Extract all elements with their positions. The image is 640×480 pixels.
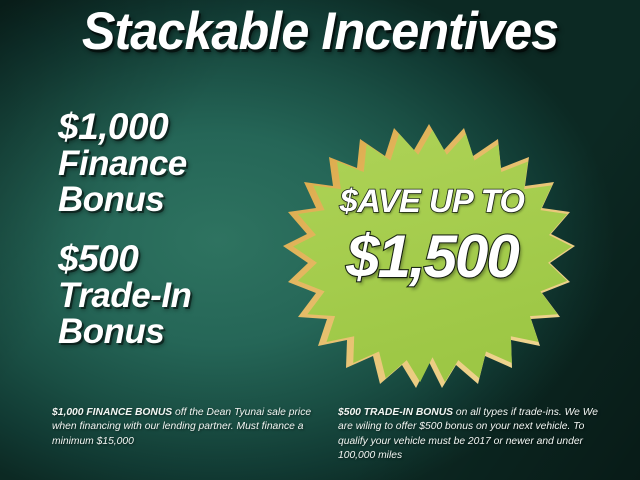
fineprint-tradein-lead: $500 TRADE-IN BONUS xyxy=(338,407,453,418)
offer-item: $500 Trade-In Bonus xyxy=(58,240,191,350)
offer-label-line-2: Bonus xyxy=(58,182,191,218)
offer-item: $1,000 Finance Bonus xyxy=(58,108,191,218)
offer-amount: $500 xyxy=(58,240,191,278)
fineprint-finance: $1,000 FINANCE BONUS off the Dean Tyunai… xyxy=(52,406,320,464)
fineprint-tradein: $500 TRADE-IN BONUS on all types if trad… xyxy=(338,406,606,464)
savings-starburst-badge: $AVE UP TO $1,500 xyxy=(291,125,573,385)
fineprint-finance-lead: $1,000 FINANCE BONUS xyxy=(52,407,172,418)
fineprint-row: $1,000 FINANCE BONUS off the Dean Tyunai… xyxy=(52,406,606,464)
offer-label-line-1: Trade-In xyxy=(58,278,191,314)
offer-label-line-2: Bonus xyxy=(58,314,191,350)
promo-poster: Stackable Incentives $1,000 Finance Bonu… xyxy=(0,0,640,480)
offer-label-line-1: Finance xyxy=(58,146,191,182)
offer-list: $1,000 Finance Bonus $500 Trade-In Bonus xyxy=(58,108,191,350)
page-title: Stackable Incentives xyxy=(16,4,624,60)
starburst-icon xyxy=(291,125,573,385)
offer-amount: $1,000 xyxy=(58,108,191,146)
